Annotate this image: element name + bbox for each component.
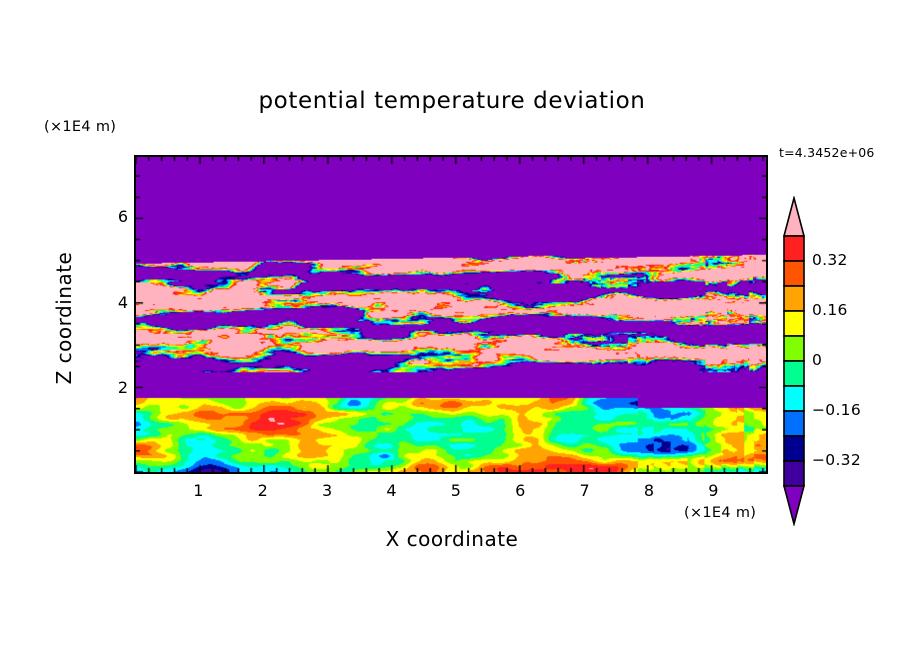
contour-field [136, 157, 766, 472]
y-tick-label: 6 [88, 207, 128, 226]
colorbar-tick-label: 0 [812, 351, 822, 369]
colorbar-tick-label: −0.32 [812, 451, 861, 469]
x-tick-label: 9 [693, 481, 733, 500]
colorbar-band [784, 286, 804, 311]
colorbar-band [784, 311, 804, 336]
x-tick-label: 3 [307, 481, 347, 500]
colorbar-band [784, 361, 804, 386]
colorbar-tick-label: 0.32 [812, 251, 848, 269]
colorbar-band [784, 411, 804, 436]
x-tick-label: 4 [371, 481, 411, 500]
timestamp-annotation: t=4.3452e+06 [779, 145, 875, 160]
x-tick-label: 5 [436, 481, 476, 500]
contour-plot-area [134, 155, 768, 474]
colorbar-band [784, 436, 804, 461]
x-axis-title: X coordinate [0, 527, 904, 551]
colorbar-band [784, 236, 804, 261]
y-axis-title: Z coordinate [52, 228, 76, 408]
colorbar-band [784, 261, 804, 286]
x-tick-label: 1 [178, 481, 218, 500]
x-tick-label: 2 [243, 481, 283, 500]
x-tick-label: 6 [500, 481, 540, 500]
colorbar-tick-label: 0.16 [812, 301, 848, 319]
colorbar-under-arrow [784, 486, 804, 524]
x-tick-label: 8 [629, 481, 669, 500]
y-tick-label: 2 [88, 378, 128, 397]
colorbar-tick-label: −0.16 [812, 401, 861, 419]
x-axis-unit-label: (×1E4 m) [684, 505, 756, 521]
colorbar-band [784, 336, 804, 361]
figure-canvas: potential temperature deviation (×1E4 m)… [0, 0, 904, 654]
page-title: potential temperature deviation [0, 88, 904, 114]
colorbar [783, 196, 805, 526]
colorbar-swatches [783, 196, 805, 526]
y-tick-label: 4 [88, 293, 128, 312]
colorbar-band [784, 461, 804, 486]
colorbar-band [784, 386, 804, 411]
y-axis-unit-label: (×1E4 m) [44, 119, 116, 135]
x-tick-label: 7 [565, 481, 605, 500]
colorbar-over-arrow [784, 198, 804, 236]
